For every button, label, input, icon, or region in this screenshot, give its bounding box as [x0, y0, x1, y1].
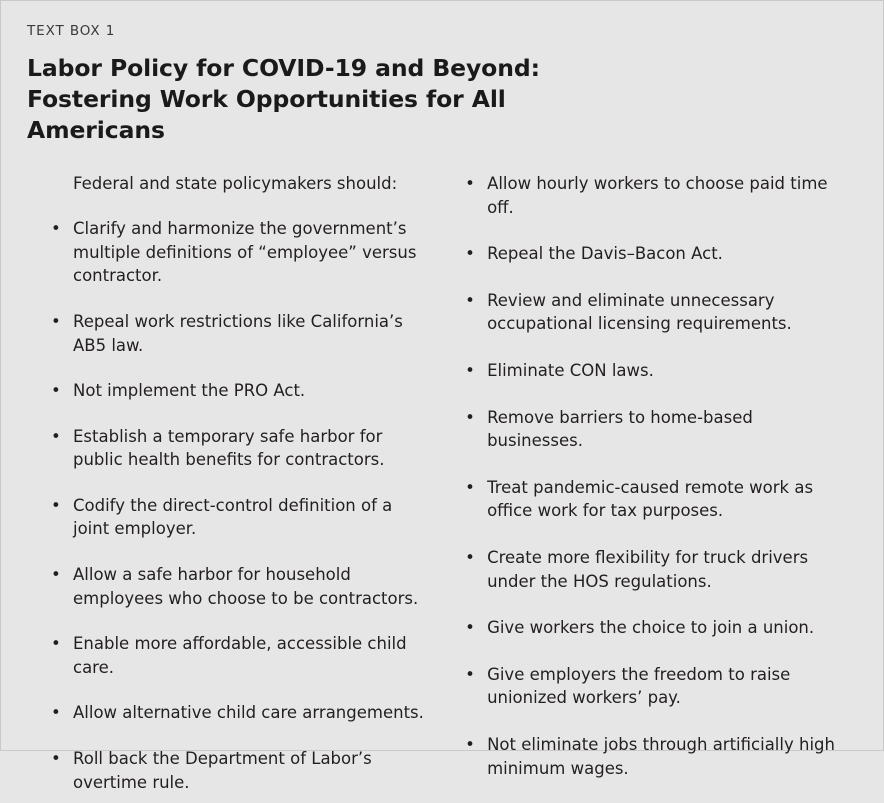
list-item: •Allow a safe harbor for household emplo…	[49, 563, 433, 610]
bullet-icon: •	[51, 701, 61, 725]
text-box-panel: TEXT BOX 1 Labor Policy for COVID-19 and…	[0, 0, 884, 751]
list-item: •Create more flexibility for truck drive…	[463, 546, 851, 593]
list-item: •Establish a temporary safe harbor for p…	[49, 425, 433, 472]
text-box-eyebrow: TEXT BOX 1	[27, 23, 857, 39]
list-intro: Federal and state policymakers should:	[49, 172, 433, 195]
bullet-icon: •	[465, 289, 475, 313]
list-item: •Repeal work restrictions like Californi…	[49, 310, 433, 357]
list-item: •Review and eliminate unnecessary occupa…	[463, 289, 851, 336]
bullet-icon: •	[51, 563, 61, 587]
list-item: •Give workers the choice to join a union…	[463, 616, 851, 640]
list-item-text: Clarify and harmonize the government’s m…	[73, 219, 416, 285]
list-item-text: Allow hourly workers to choose paid time…	[487, 174, 827, 217]
two-column-list: Federal and state policymakers should: •…	[27, 172, 857, 803]
bullet-icon: •	[51, 425, 61, 449]
bullet-icon: •	[51, 310, 61, 334]
list-item-text: Create more flexibility for truck driver…	[487, 548, 808, 591]
list-item-text: Repeal work restrictions like California…	[73, 312, 403, 355]
list-item: •Repeal the Davis–Bacon Act.	[463, 242, 851, 266]
list-item: •Not eliminate jobs through artificially…	[463, 733, 851, 780]
list-item: •Treat pandemic-caused remote work as of…	[463, 476, 851, 523]
bullet-icon: •	[465, 663, 475, 687]
list-item-text: Establish a temporary safe harbor for pu…	[73, 427, 385, 470]
list-item-text: Remove barriers to home-based businesses…	[487, 408, 753, 451]
list-item-text: Not implement the PRO Act.	[73, 381, 305, 400]
bullet-icon: •	[465, 242, 475, 266]
bullet-icon: •	[51, 379, 61, 403]
bullet-icon: •	[465, 359, 475, 383]
list-item-text: Give employers the freedom to raise unio…	[487, 665, 790, 708]
list-item: •Give employers the freedom to raise uni…	[463, 663, 851, 710]
bullet-icon: •	[51, 217, 61, 241]
list-item: •Eliminate CON laws.	[463, 359, 851, 383]
list-item: •Codify the direct-control definition of…	[49, 494, 433, 541]
bullet-icon: •	[51, 632, 61, 656]
list-item-text: Treat pandemic-caused remote work as off…	[487, 478, 813, 521]
bullet-icon: •	[51, 494, 61, 518]
list-item-text: Review and eliminate unnecessary occupat…	[487, 291, 792, 334]
list-item-text: Allow alternative child care arrangement…	[73, 703, 424, 722]
list-item: •Allow alternative child care arrangemen…	[49, 701, 433, 725]
list-item: •Enable more affordable, accessible chil…	[49, 632, 433, 679]
list-item-text: Roll back the Department of Labor’s over…	[73, 749, 372, 792]
list-item: •Clarify and harmonize the government’s …	[49, 217, 433, 288]
list-item-text: Not eliminate jobs through artificially …	[487, 735, 835, 778]
list-item: •Remove barriers to home-based businesse…	[463, 406, 851, 453]
list-item: •Allow hourly workers to choose paid tim…	[463, 172, 851, 219]
list-item-text: Eliminate CON laws.	[487, 361, 654, 380]
bullet-icon: •	[465, 406, 475, 430]
page-title: Labor Policy for COVID-19 and Beyond: Fo…	[27, 53, 587, 146]
list-item: •Not implement the PRO Act.	[49, 379, 433, 403]
bullet-icon: •	[465, 733, 475, 757]
list-item-text: Codify the direct-control definition of …	[73, 496, 392, 539]
list-item-text: Allow a safe harbor for household employ…	[73, 565, 418, 608]
list-item: •Roll back the Department of Labor’s ove…	[49, 747, 433, 794]
bullet-icon: •	[465, 476, 475, 500]
bullet-icon: •	[465, 546, 475, 570]
bullet-icon: •	[465, 616, 475, 640]
right-recommendation-list: •Allow hourly workers to choose paid tim…	[463, 172, 851, 780]
list-item-text: Enable more affordable, accessible child…	[73, 634, 407, 677]
left-column: Federal and state policymakers should: •…	[27, 172, 453, 803]
list-item-text: Repeal the Davis–Bacon Act.	[487, 244, 723, 263]
right-column: •Allow hourly workers to choose paid tim…	[453, 172, 857, 803]
left-recommendation-list: •Clarify and harmonize the government’s …	[49, 217, 433, 794]
bullet-icon: •	[465, 172, 475, 196]
list-item-text: Give workers the choice to join a union.	[487, 618, 814, 637]
